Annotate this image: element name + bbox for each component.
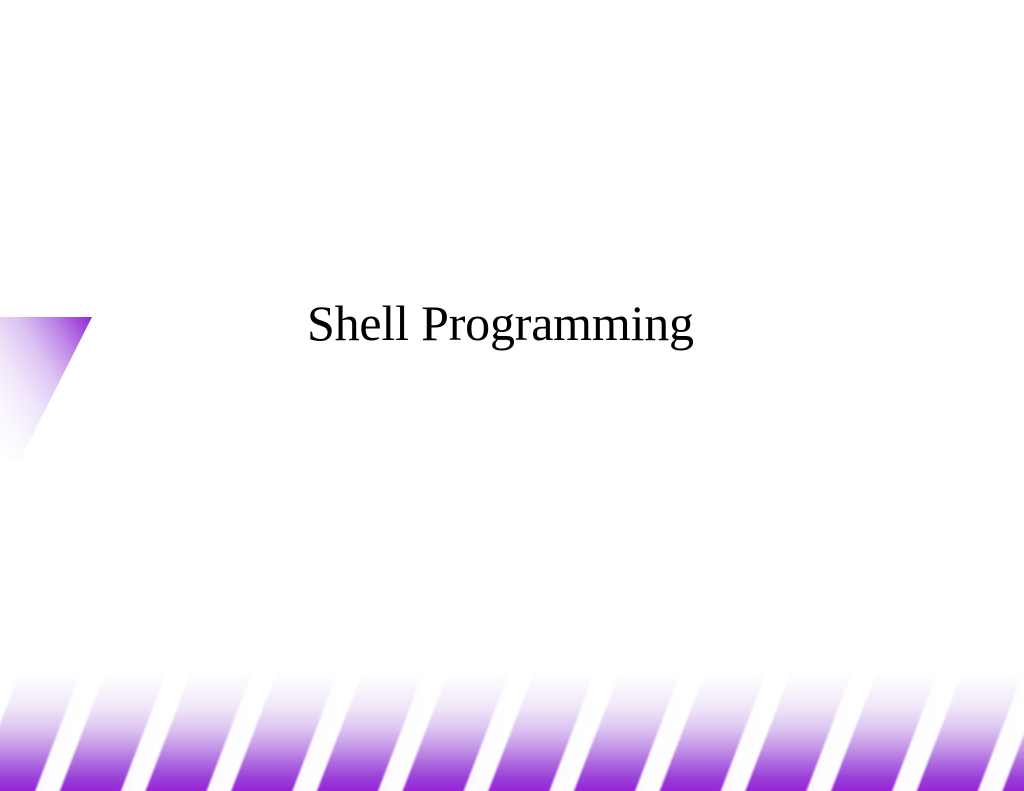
page-title: Shell Programming <box>307 296 947 350</box>
wedge-shape <box>0 317 92 460</box>
band-gradient-fill <box>0 671 1024 791</box>
left-corner-wedge <box>0 317 95 465</box>
bottom-stripe-band <box>0 671 1024 791</box>
slide-canvas: Shell Programming <box>0 0 1024 791</box>
band-diagonal-stripes <box>0 661 1024 791</box>
title-placeholder: Shell Programming <box>307 296 947 350</box>
